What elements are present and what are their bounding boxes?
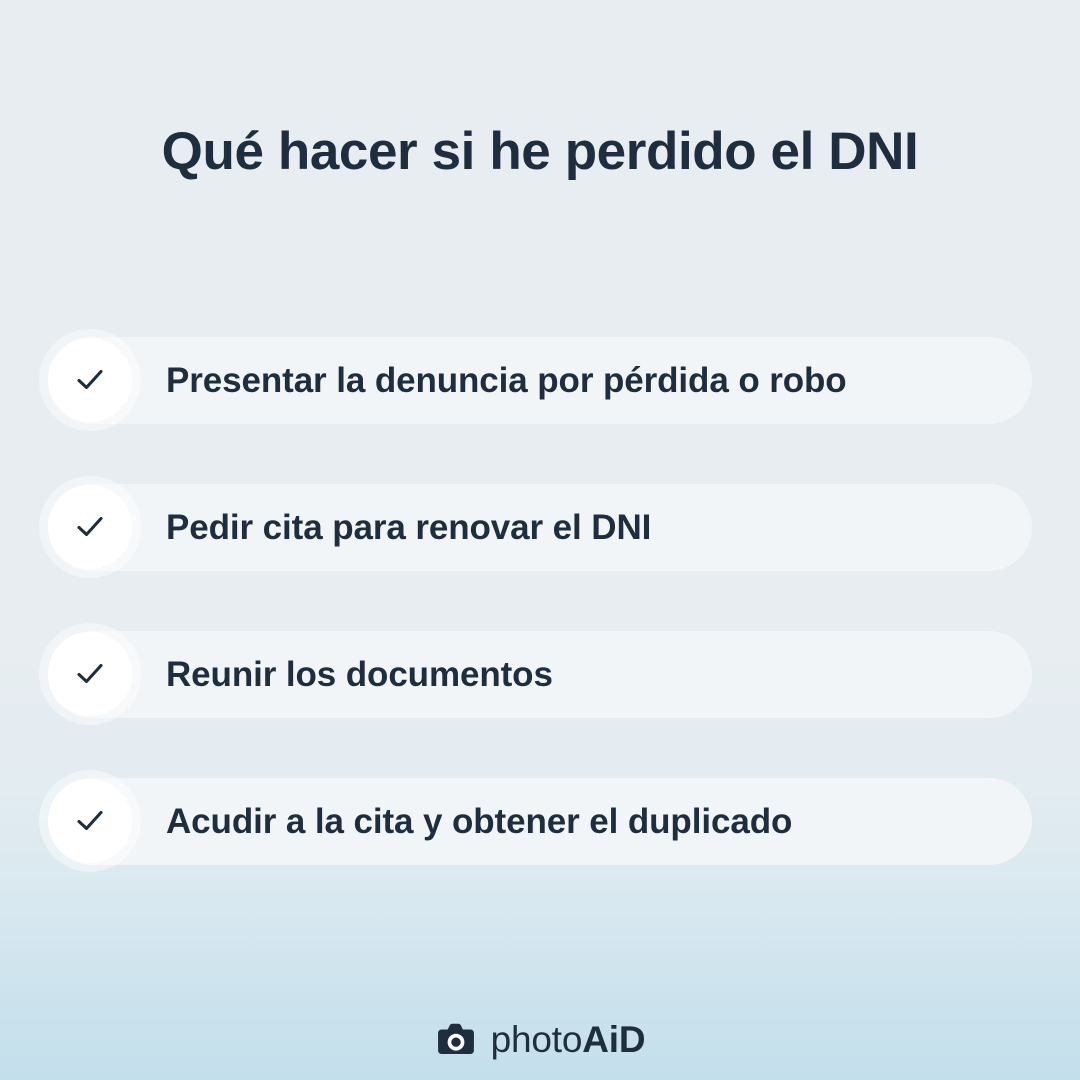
brand-wordmark: photoAiD <box>491 1021 646 1058</box>
check-icon <box>70 507 110 547</box>
check-badge <box>48 779 132 863</box>
brand-name-bold: AiD <box>582 1019 645 1060</box>
page-title: Qué hacer si he perdido el DNI <box>0 122 1080 181</box>
list-item: Presentar la denuncia por pérdida o robo <box>0 337 1080 424</box>
check-icon <box>70 654 110 694</box>
check-icon <box>70 360 110 400</box>
check-badge <box>48 485 132 569</box>
infographic-canvas: Qué hacer si he perdido el DNI Presentar… <box>0 0 1080 1080</box>
checklist: Presentar la denuncia por pérdida o robo… <box>0 337 1080 925</box>
footer-branding: photoAiD <box>0 1021 1080 1058</box>
check-icon <box>70 801 110 841</box>
list-item-label: Acudir a la cita y obtener el duplicado <box>166 778 792 865</box>
list-item: Pedir cita para renovar el DNI <box>0 484 1080 571</box>
list-item-label: Pedir cita para renovar el DNI <box>166 484 651 571</box>
list-item: Reunir los documentos <box>0 631 1080 718</box>
check-badge <box>48 632 132 716</box>
check-badge <box>48 338 132 422</box>
list-item: Acudir a la cita y obtener el duplicado <box>0 778 1080 865</box>
list-item-label: Reunir los documentos <box>166 631 553 718</box>
camera-icon <box>435 1022 477 1058</box>
list-item-label: Presentar la denuncia por pérdida o robo <box>166 337 847 424</box>
brand-name-light: photo <box>491 1019 583 1060</box>
